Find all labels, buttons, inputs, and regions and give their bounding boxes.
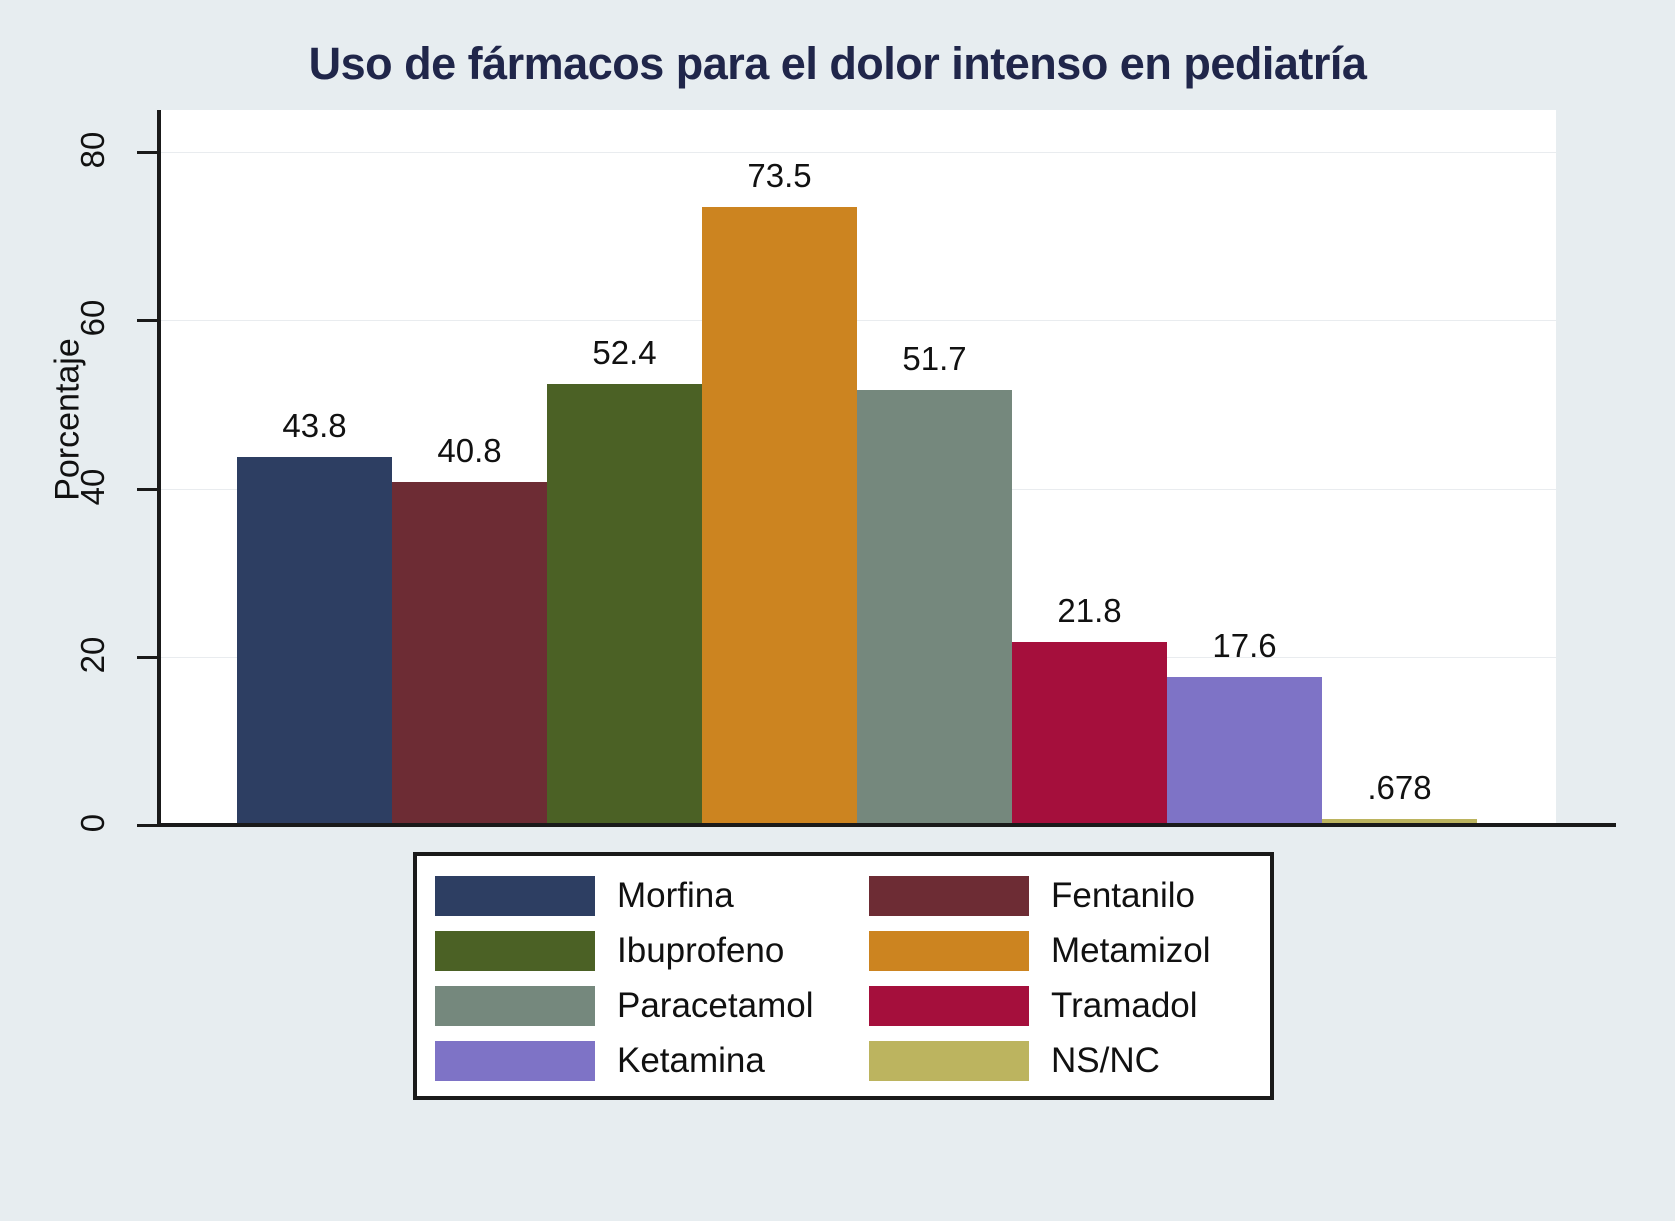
legend-swatch-tramadol (869, 986, 1029, 1026)
legend-item-metamizol[interactable]: Metamizol (869, 923, 1210, 978)
gridline-80 (161, 152, 1556, 153)
bar-value-label-ns-nc: .678 (1282, 769, 1517, 807)
chart-figure: Uso de fármacos para el dolor intenso en… (0, 0, 1675, 1221)
legend-swatch-ibuprofeno (435, 931, 595, 971)
y-tick-label-60: 60 (74, 286, 112, 350)
legend-label-ketamina: Ketamina (617, 1041, 765, 1081)
legend-column-right: FentaniloMetamizolTramadolNS/NC (869, 868, 1210, 1088)
chart-legend: MorfinaIbuprofenoParacetamolKetamina Fen… (413, 852, 1274, 1100)
x-axis-line (157, 823, 1616, 827)
legend-label-paracetamol: Paracetamol (617, 986, 813, 1026)
legend-item-ns-nc[interactable]: NS/NC (869, 1033, 1210, 1088)
y-tick-mark-40 (137, 488, 157, 491)
bar-ibuprofeno (547, 384, 702, 825)
legend-swatch-metamizol (869, 931, 1029, 971)
legend-label-ibuprofeno: Ibuprofeno (617, 931, 784, 971)
legend-label-fentanilo: Fentanilo (1051, 876, 1195, 916)
y-tick-mark-20 (137, 656, 157, 659)
legend-swatch-morfina (435, 876, 595, 916)
legend-item-tramadol[interactable]: Tramadol (869, 978, 1210, 1033)
legend-label-metamizol: Metamizol (1051, 931, 1210, 971)
legend-item-ibuprofeno[interactable]: Ibuprofeno (435, 923, 813, 978)
y-tick-label-0: 0 (74, 791, 112, 855)
legend-item-ketamina[interactable]: Ketamina (435, 1033, 813, 1088)
legend-label-ns-nc: NS/NC (1051, 1041, 1160, 1081)
gridline-60 (161, 320, 1556, 321)
bar-metamizol (702, 207, 857, 825)
legend-item-paracetamol[interactable]: Paracetamol (435, 978, 813, 1033)
legend-item-morfina[interactable]: Morfina (435, 868, 813, 923)
y-tick-mark-60 (137, 319, 157, 322)
y-tick-label-80: 80 (74, 118, 112, 182)
bar-morfina (237, 457, 392, 825)
y-tick-label-40: 40 (74, 455, 112, 519)
y-tick-mark-80 (137, 151, 157, 154)
legend-swatch-ns-nc (869, 1041, 1029, 1081)
legend-label-tramadol: Tramadol (1051, 986, 1198, 1026)
legend-label-morfina: Morfina (617, 876, 734, 916)
chart-title: Uso de fármacos para el dolor intenso en… (0, 38, 1675, 90)
plot-area: 43.840.852.473.551.721.817.6.678 (157, 110, 1556, 825)
legend-item-fentanilo[interactable]: Fentanilo (869, 868, 1210, 923)
bar-value-label-ketamina: 17.6 (1127, 627, 1362, 665)
bar-value-label-tramadol: 21.8 (972, 592, 1207, 630)
legend-column-left: MorfinaIbuprofenoParacetamolKetamina (435, 868, 813, 1088)
legend-swatch-ketamina (435, 1041, 595, 1081)
legend-swatch-fentanilo (869, 876, 1029, 916)
bar-value-label-metamizol: 73.5 (662, 157, 897, 195)
bar-value-label-paracetamol: 51.7 (817, 340, 1052, 378)
bar-fentanilo (392, 482, 547, 825)
bar-tramadol (1012, 642, 1167, 825)
y-tick-label-20: 20 (74, 623, 112, 687)
y-tick-mark-0 (137, 824, 157, 827)
legend-swatch-paracetamol (435, 986, 595, 1026)
